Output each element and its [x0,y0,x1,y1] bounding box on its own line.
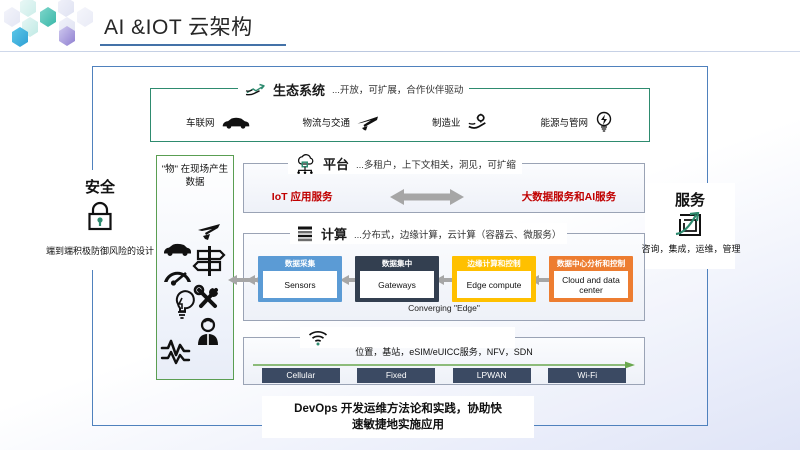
compute-box-0[interactable]: 数据采集 Sensors [258,256,342,302]
compute-subtitle: ...分布式，边缘计算，云计算（容器云、微服务） [354,227,561,241]
things-icon-grid [158,218,232,376]
platform-right-service: 大数据服务和AI服务 [522,189,617,204]
gauge-icon [164,272,191,286]
compute-box-title: 数据中心分析和控制 [557,258,625,269]
ecosystem-title: 生态系统 [273,80,325,99]
wifi-icon [308,330,328,346]
connectivity-pill-1[interactable]: Fixed [357,368,435,383]
heartbeat-icon [162,341,189,363]
services-title: 服务 [675,189,705,210]
ecosystem-item-label: 物流与交通 [302,115,350,129]
compute-box-body: Gateways [360,271,434,298]
person-icon [198,319,218,345]
compute-box-3[interactable]: 数据中心分析和控制 Cloud and data center [549,256,633,302]
services-panel: 服务 [645,183,735,269]
car-icon [221,115,251,130]
airplane-icon [356,111,380,133]
compute-box-2[interactable]: 边缘计算和控制 Edge compute [452,256,536,302]
compute-title: 计算 [321,224,347,243]
double-arrow-icon [390,187,464,207]
ecosystem-header: 生态系统 ...开放，可扩展，合作伙伴驱动 [238,78,469,100]
devops-line-2: 速敏捷地实施应用 [352,417,444,433]
lightbulb-icon [177,291,194,318]
connectivity-pill-3[interactable]: Wi-Fi [548,368,626,383]
compute-box-body: Sensors [263,271,337,298]
ecosystem-item-3[interactable]: 能源与管网 [540,111,614,133]
devops-line-1: DevOps 开发运维方法论和实践，协助快 [294,401,502,417]
signpost-icon [194,246,224,276]
page-title: AI &IOT 云架构 [104,11,253,41]
title-underline [100,44,286,46]
hexagon-cluster-logo [0,0,110,52]
converging-edge-label: Converging "Edge" [243,303,645,313]
padlock-icon [85,200,115,232]
security-caption: 端到端积极防御风险的设计 [44,245,156,258]
compute-box-body: Edge compute [457,271,531,298]
platform-title: 平台 [323,154,349,173]
ecosystem-item-label: 能源与管网 [540,115,588,129]
ecosystem-item-2[interactable]: 制造业 [432,112,489,132]
platform-header: 平台 ...多租户，上下文相关，洞见，可扩缩 [288,153,522,174]
compute-box-1[interactable]: 数据集中 Gateways [355,256,439,302]
header-divider [0,51,800,52]
compute-box-title: 数据集中 [382,258,412,269]
stacked-layers-icon [296,225,314,243]
ecosystem-subtitle: ...开放，可扩展，合作伙伴驱动 [332,82,463,96]
connectivity-pills: Cellular Fixed LPWAN Wi-Fi [253,367,635,383]
cloud-network-icon [294,154,316,174]
compute-header: 计算 ...分布式，边缘计算，云计算（容器云、微服务） [290,223,567,244]
growth-arrow-icon [674,212,706,242]
connectivity-subtitle: 位置，基站，eSIM/eUICC服务，NFV，SDN [243,345,645,358]
car-icon [164,244,191,256]
ecosystem-items: 车联网 物流与交通 制造业 能源与管网 [150,104,650,140]
hand-gear-icon [467,112,489,132]
ecosystem-item-label: 车联网 [186,115,215,129]
energy-bulb-icon [594,111,614,133]
platform-left-service: IoT 应用服务 [272,189,333,204]
compute-box-title: 数据采集 [285,258,315,269]
devops-banner: DevOps 开发运维方法论和实践，协助快 速敏捷地实施应用 [262,396,534,438]
airplane-icon [198,224,220,240]
wrench-tools-icon [195,286,218,306]
ecosystem-item-0[interactable]: 车联网 [186,115,251,130]
platform-services: IoT 应用服务 大数据服务和AI服务 [243,180,645,213]
handshake-cycle-icon [244,80,266,98]
security-title: 安全 [85,176,115,197]
connectivity-pill-0[interactable]: Cellular [262,368,340,383]
compute-box-body: Cloud and data center [554,271,628,298]
ecosystem-item-label: 制造业 [432,115,461,129]
platform-subtitle: ...多租户，上下文相关，洞见，可扩缩 [356,157,516,171]
things-label: "物" 在现场产生数据 [158,163,232,189]
connectivity-pill-2[interactable]: LPWAN [453,368,531,383]
page-header: AI &IOT 云架构 [0,0,800,52]
compute-boxes: 数据采集 Sensors 数据集中 Gateways 边缘计算和控制 Edge … [258,256,633,302]
compute-box-title: 边缘计算和控制 [467,258,520,269]
ecosystem-item-1[interactable]: 物流与交通 [302,111,380,133]
services-caption: 咨询，集成，运维，管理 [630,243,752,256]
